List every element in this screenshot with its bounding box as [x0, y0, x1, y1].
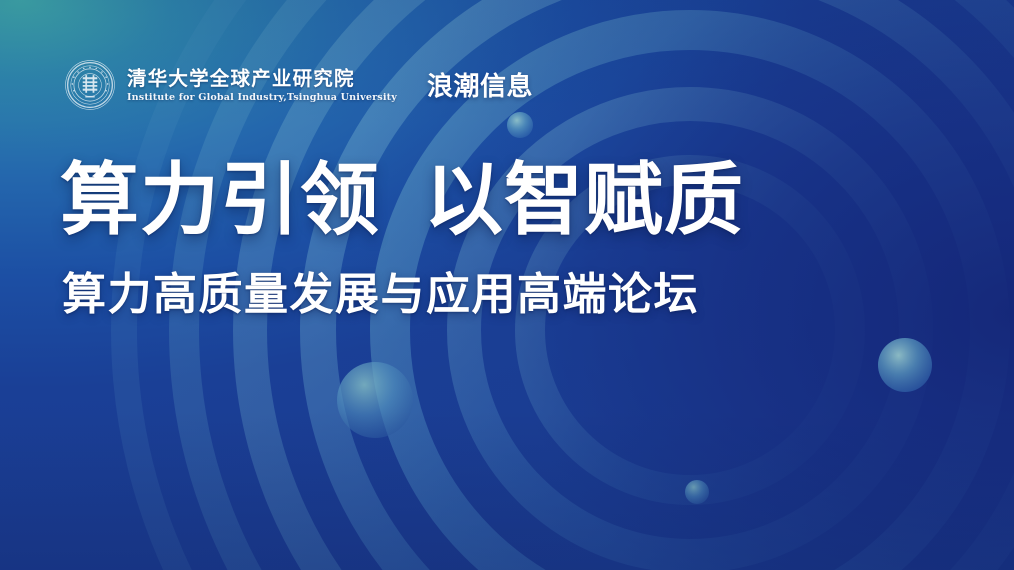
- tsinghua-institute-name: 清华大学全球产业研究院 Institute for Global Industr…: [127, 67, 397, 103]
- org-name-cn: 清华大学全球产业研究院: [127, 69, 397, 89]
- org-name-en: Institute for Global Industry,Tsinghua U…: [127, 92, 397, 104]
- tsinghua-university-seal-icon: [64, 59, 116, 111]
- partner-logo-inspur: 浪潮信息: [427, 71, 533, 100]
- banner-content: 清华大学全球产业研究院 Institute for Global Industr…: [0, 0, 1014, 570]
- main-title-part-1: 算力引领: [60, 154, 380, 246]
- main-title-part-2: 以智赋质: [424, 154, 744, 246]
- event-main-title: 算力引领以智赋质: [60, 160, 744, 241]
- event-banner: 清华大学全球产业研究院 Institute for Global Industr…: [0, 0, 1014, 570]
- logo-row: 清华大学全球产业研究院 Institute for Global Industr…: [64, 54, 533, 116]
- event-subtitle: 算力高质量发展与应用高端论坛: [62, 270, 699, 321]
